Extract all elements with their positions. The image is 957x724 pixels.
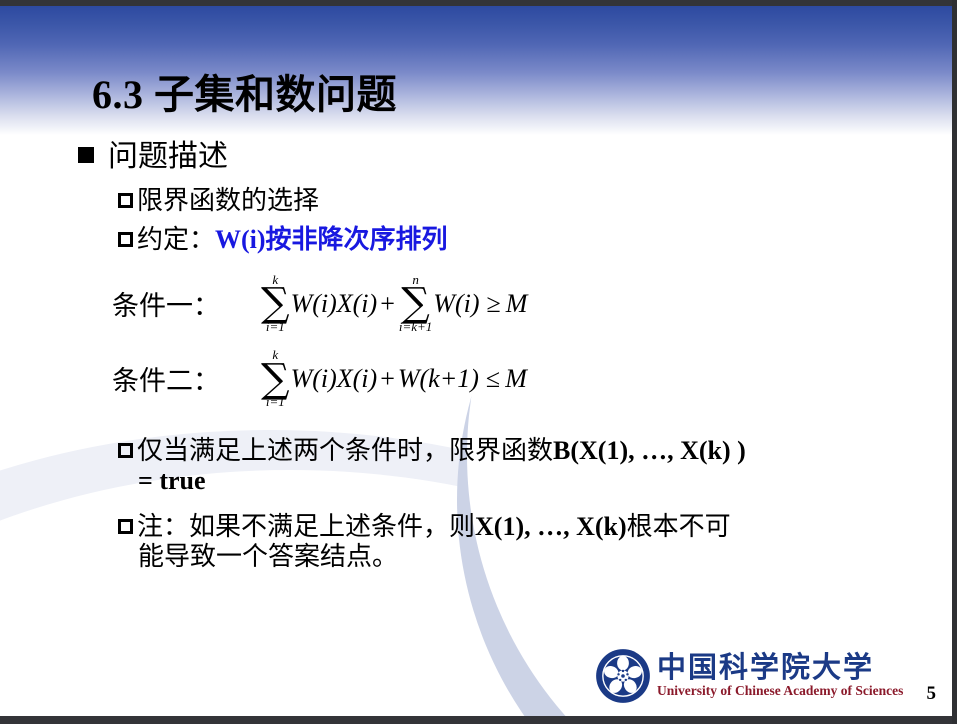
- sum-lower-limit: i=1: [266, 395, 285, 409]
- sigma-glyph-icon: ∑: [261, 363, 290, 396]
- slide-canvas: 6.3 子集和数问题 问题描述 限界函数的选择 约定：W(i)按非降次序排列 条…: [0, 0, 957, 724]
- right-hand-side: M: [505, 364, 527, 394]
- bullet-bounding-function-choice: 限界函数的选择: [118, 185, 957, 216]
- note-line1-plain: 注：如果不满足上述条件，则: [137, 512, 475, 541]
- sum-body-1: W(i)X(i): [291, 364, 378, 394]
- sum-body-2: W(i): [433, 289, 479, 319]
- filled-square-bullet-icon: [78, 147, 94, 163]
- bullet-label-plain: 约定：: [137, 225, 215, 254]
- summation-symbol-2-icon: n ∑ i=k+1: [399, 273, 432, 334]
- sigma-glyph-icon: ∑: [401, 287, 430, 320]
- sigma-glyph-icon: ∑: [261, 287, 290, 320]
- slide-title: 6.3 子集和数问题: [92, 62, 397, 120]
- bullet-note-no-answer-node: 注：如果不满足上述条件，则X(1), …, X(k)根本不可 能导致一个答案结点…: [118, 512, 828, 572]
- relation-operator: ≥: [487, 289, 501, 319]
- condition-one-label: 条件一：: [112, 284, 220, 323]
- bullet-level1-label: 问题描述: [108, 140, 228, 173]
- plus-operator: +: [380, 364, 395, 394]
- condition-one-formula: k ∑ i=1 W(i)X(i) + n ∑ i=k+1 W(i) ≥ M: [260, 273, 527, 334]
- note-line1-plain: 仅当满足上述两个条件时，限界函数: [137, 436, 553, 465]
- bullet-convention: 约定：W(i)按非降次序排列: [118, 224, 957, 255]
- slide-title-text: 子集和数问题: [154, 72, 397, 117]
- sum-body-1: W(i)X(i): [291, 289, 378, 319]
- hollow-square-bullet-icon: [118, 193, 133, 208]
- footer-logo-block: 中国科学院大学 University of Chinese Academy of…: [595, 645, 940, 707]
- hollow-square-bullet-icon: [118, 232, 133, 247]
- extra-term: W(k+1): [398, 364, 479, 394]
- note-line2-plain: 能导致一个答案结点。: [138, 542, 828, 572]
- condition-two-row: 条件二： k ∑ i=1 W(i)X(i) + W(k+1) ≤ M: [112, 348, 957, 409]
- condition-two-label: 条件二：: [112, 359, 220, 398]
- sum-lower-limit: i=1: [266, 320, 285, 334]
- page-number: 5: [927, 683, 937, 705]
- note-line1-plain-tail: 根本不可: [627, 512, 731, 541]
- note-line1-accent: B(X(1), …, X(k) ): [553, 436, 746, 465]
- summation-symbol-1-icon: k ∑ i=1: [261, 273, 290, 334]
- ucas-circular-emblem-icon: [595, 648, 651, 704]
- hollow-square-bullet-icon: [118, 443, 133, 458]
- viewer-frame-top: [0, 0, 957, 6]
- viewer-frame-bottom: [0, 716, 957, 724]
- bullet-level1-problem-description: 问题描述: [78, 140, 957, 175]
- plus-operator: +: [380, 289, 395, 319]
- bullet-label: 限界函数的选择: [137, 186, 319, 215]
- note-line1-accent: X(1), …, X(k): [475, 512, 627, 541]
- slide-body: 问题描述 限界函数的选择 约定：W(i)按非降次序排列 条件一： k ∑ i=1…: [0, 140, 957, 640]
- summation-symbol-1-icon: k ∑ i=1: [261, 348, 290, 409]
- logo-text-block: 中国科学院大学 University of Chinese Academy of…: [657, 653, 903, 698]
- viewer-frame-right: [952, 0, 957, 724]
- condition-one-row: 条件一： k ∑ i=1 W(i)X(i) + n ∑ i=k+1 W(i) ≥…: [112, 273, 957, 334]
- note-line2-accent: = true: [138, 466, 828, 496]
- condition-two-formula: k ∑ i=1 W(i)X(i) + W(k+1) ≤ M: [260, 348, 527, 409]
- bullet-label-accent: W(i)按非降次序排列: [215, 225, 448, 254]
- university-name-cn: 中国科学院大学: [657, 653, 903, 683]
- hollow-square-bullet-icon: [118, 519, 133, 534]
- university-name-en: University of Chinese Academy of Science…: [657, 684, 903, 699]
- bullet-note-true-condition: 仅当满足上述两个条件时，限界函数B(X(1), …, X(k) ) = true: [118, 436, 828, 496]
- relation-operator: ≤: [486, 364, 500, 394]
- slide-title-number: 6.3: [92, 72, 144, 117]
- sum-lower-limit: i=k+1: [399, 320, 432, 334]
- right-hand-side: M: [506, 289, 528, 319]
